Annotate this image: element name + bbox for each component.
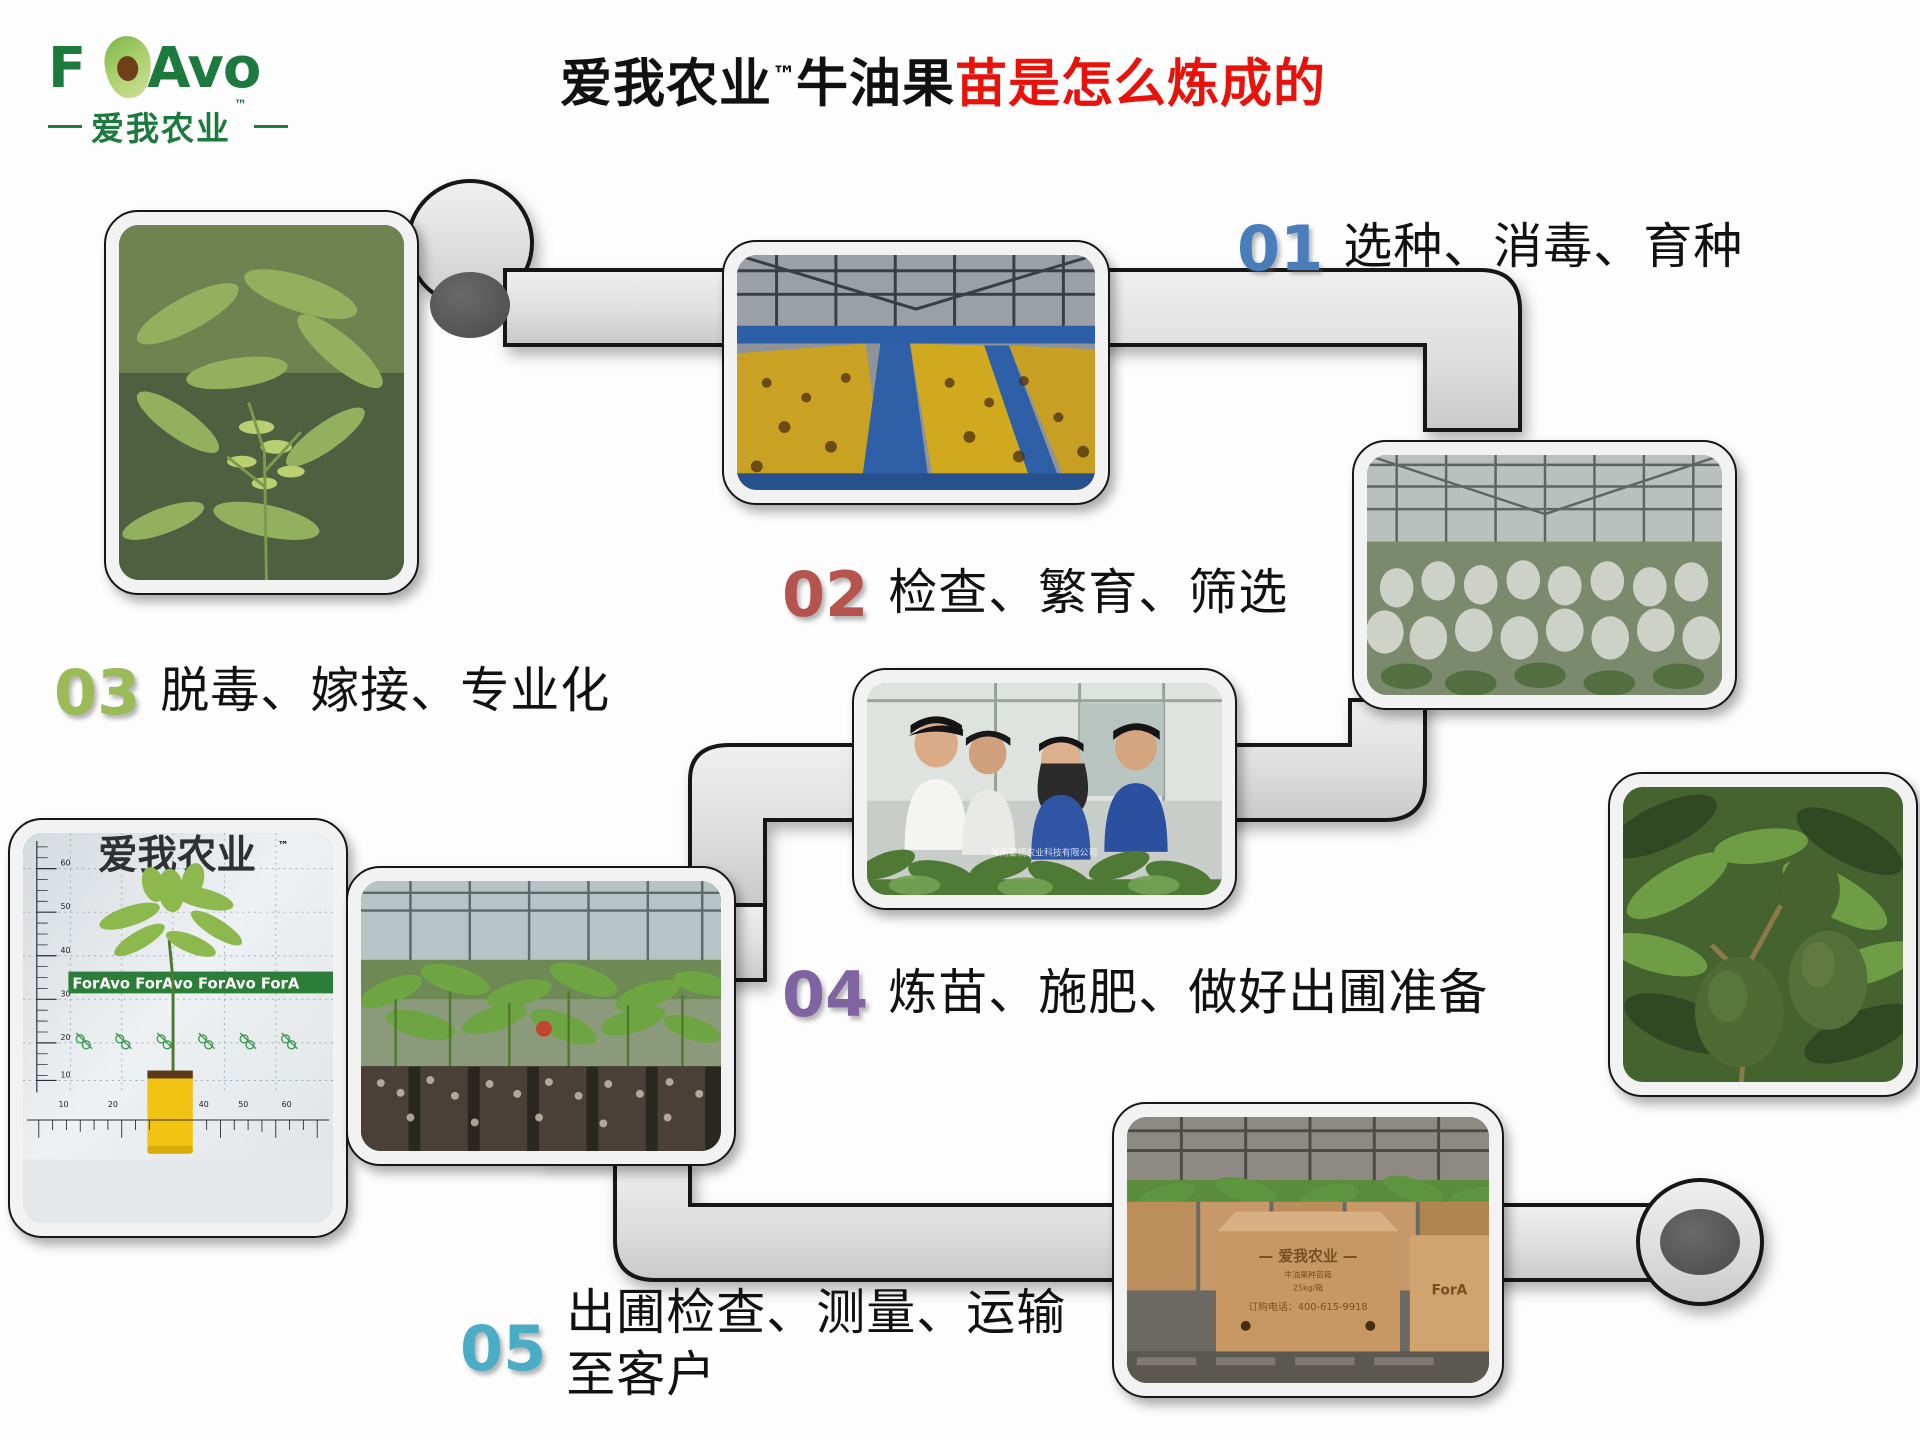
flow-start-knob [430, 272, 510, 338]
svg-text:ForAvo ForAvo ForAvo ForA: ForAvo ForAvo ForAvo ForA [72, 975, 299, 992]
ruler-x-tick: 60 [282, 1100, 292, 1109]
potted-seedlings-image [361, 881, 721, 1151]
grafting-greenhouse-image [1367, 455, 1722, 695]
ruler-y-tick: 40 [61, 946, 71, 955]
ruler-x-tick: 40 [199, 1100, 209, 1109]
ruler-y-tick: 10 [61, 1070, 71, 1079]
step-03-number: 03 [54, 660, 140, 726]
photo-watermark: 海南望楠农业科技有限公司 [991, 847, 1098, 859]
step-02-label: 02 检查、繁育、筛选 [782, 562, 1288, 628]
seed-germination-trays-photo [722, 240, 1110, 505]
ruler-x-tick: 20 [108, 1100, 118, 1109]
main-carton: — 爱我农业 — 牛油果种苗箱 25kg/箱 订购电话：400-615-9918 [1216, 1212, 1400, 1354]
step-05-number: 05 [460, 1316, 546, 1382]
carton-foravo: ForA [1431, 1282, 1467, 1298]
step-02-number: 02 [782, 562, 868, 628]
svg-text:爱我农业: 爱我农业 [98, 833, 256, 879]
step-01-label: 01 选种、消毒、育种 [1237, 216, 1743, 282]
carton-sub: 牛油果种苗箱 [1284, 1270, 1331, 1280]
germination-trays-image [737, 255, 1095, 490]
avocado-fruit-image [1623, 787, 1903, 1082]
step-05-label: 05 出圃检查、测量、运输 至客户 [460, 1282, 1066, 1406]
inspection-staff-photo: 海南望楠农业科技有限公司 [852, 668, 1237, 910]
ruler-x-tick: 50 [238, 1100, 248, 1109]
grafting-greenhouse-photo [1352, 440, 1737, 710]
ruler-y-tick: 60 [61, 859, 71, 868]
packing-boxes-image: — 爱我农业 — 牛油果种苗箱 25kg/箱 订购电话：400-615-9918… [1127, 1117, 1489, 1383]
infographic-canvas: ForAvo 爱我农业 ™ 爱我农业™牛油果苗是怎么炼成的 [0, 0, 1920, 1440]
svg-text:™: ™ [278, 839, 289, 852]
carton-phone: 订购电话：400-615-9918 [1248, 1300, 1367, 1313]
step-04-text: 炼苗、施肥、做好出圃准备 [888, 962, 1488, 1024]
yellow-pot [147, 1071, 192, 1154]
step-04-number: 04 [782, 962, 868, 1028]
ruler-y-tick: 20 [61, 1033, 71, 1042]
avocado-fruit-tree-photo [1608, 772, 1918, 1097]
step-04-label: 04 炼苗、施肥、做好出圃准备 [782, 962, 1488, 1028]
step-05-text-line2: 至客户 [566, 1344, 1066, 1406]
ruler-x-tick: 10 [59, 1100, 69, 1109]
potted-seedlings-photo [346, 866, 736, 1166]
ruler-y-tick: 50 [61, 902, 71, 911]
avocado-flower-photo [104, 210, 419, 595]
flow-end-knob [1660, 1209, 1740, 1275]
step-03-text: 脱毒、嫁接、专业化 [160, 660, 610, 722]
step-03-label: 03 脱毒、嫁接、专业化 [54, 660, 610, 726]
step-02-text: 检查、繁育、筛选 [888, 562, 1288, 624]
packing-boxes-photo: — 爱我农业 — 牛油果种苗箱 25kg/箱 订购电话：400-615-9918… [1112, 1102, 1504, 1398]
step-01-text: 选种、消毒、育种 [1343, 216, 1743, 278]
ruler-measurement-photo: 60 50 40 30 20 10 爱我农业 ™ ForAvo ForAvo F… [8, 818, 348, 1238]
carton-weight: 25kg/箱 [1293, 1282, 1323, 1292]
step-01-number: 01 [1237, 216, 1323, 282]
carton-brand: — 爱我农业 — [1258, 1247, 1357, 1265]
inspection-staff-image: 海南望楠农业科技有限公司 [867, 683, 1222, 895]
foravo-band: ForAvo ForAvo ForAvo ForA [68, 972, 333, 994]
ruler-measurement-image: 60 50 40 30 20 10 爱我农业 ™ ForAvo ForAvo F… [23, 833, 333, 1223]
step-05-text: 出圃检查、测量、运输 至客户 [566, 1282, 1066, 1406]
avocado-flower-image [119, 225, 404, 580]
